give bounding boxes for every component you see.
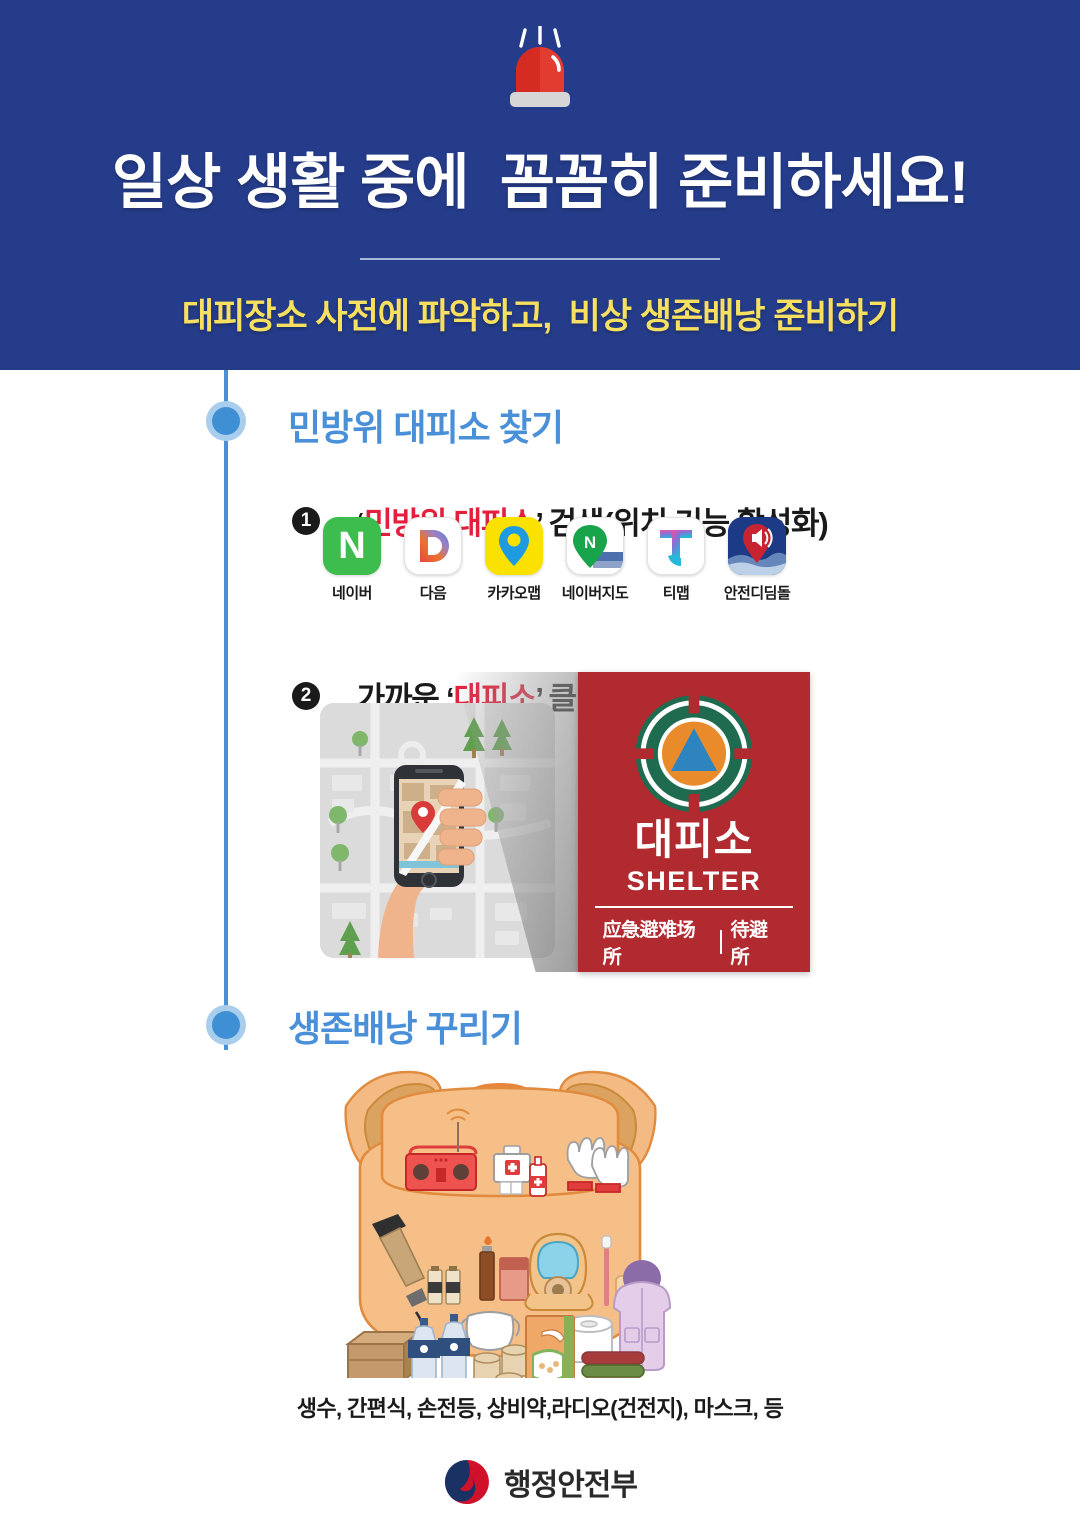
safety-didimdol-app-icon[interactable] [728, 517, 786, 575]
emergency-siren-icon [485, 26, 595, 116]
shelter-chinese-simplified-label: 应急避难场所 [595, 915, 721, 969]
app-item-navermap[interactable]: N 네이버지도 [565, 517, 625, 603]
app-item-safety-didimdol[interactable]: 안전디딤돌 [727, 517, 787, 603]
app-item-tmap[interactable]: 티맵 [646, 517, 706, 603]
shelter-korean-label: 대피소 [635, 819, 754, 861]
app-item-daum[interactable]: 다음 [403, 517, 463, 603]
step-number-1-badge: 1 [292, 507, 320, 535]
timeline-dot-section2 [206, 1005, 246, 1045]
step-number-2-badge: 2 [292, 682, 320, 710]
korea-government-taegeuk-logo [443, 1458, 491, 1506]
section1-heading: 민방위 대피소 찾기 [288, 399, 563, 451]
header-banner: 일상 생활 중에 꼼꼼히 준비하세요! 대피장소 사전에 파악하고, 비상 생존… [0, 0, 1080, 370]
navermap-app-icon[interactable]: N [566, 517, 624, 575]
timeline-line [224, 370, 228, 1050]
kakaomap-app-icon[interactable] [485, 517, 543, 575]
daum-app-icon[interactable] [404, 517, 462, 575]
app-label-safety-didimdol: 안전디딤돌 [724, 582, 791, 603]
hand-holding-phone-on-map-illustration [320, 703, 555, 958]
shelter-chinese-traditional-label: 待避所 [722, 915, 793, 969]
map-pin-icon [497, 524, 531, 568]
tmap-app-icon[interactable] [647, 517, 705, 575]
shelter-bottom-row: 应急避难场所 待避所 [595, 915, 794, 969]
app-label-naver: 네이버 [332, 582, 372, 603]
svg-text:N: N [584, 533, 596, 552]
civil-defense-shelter-emblem [619, 692, 769, 815]
section2-heading: 생존배낭 꾸리기 [288, 1000, 522, 1052]
timeline-dot-section1 [206, 401, 246, 441]
map-app-icon-row: N 네이버 다음 카카오맵 [322, 517, 787, 603]
app-item-kakaomap[interactable]: 카카오맵 [484, 517, 544, 603]
app-item-naver[interactable]: N 네이버 [322, 517, 382, 603]
app-label-navermap: 네이버지도 [562, 582, 629, 603]
app-label-tmap: 티맵 [663, 582, 690, 603]
shelter-english-label: SHELTER [627, 866, 762, 897]
shelter-divider [595, 906, 794, 908]
survival-backpack-with-supplies-illustration: SOAP [308, 1048, 693, 1378]
shelter-sign: 대피소 SHELTER 应急避难场所 待避所 [578, 672, 810, 972]
app-label-daum: 다음 [420, 582, 447, 603]
page-title: 일상 생활 중에 꼼꼼히 준비하세요! [0, 134, 1080, 221]
header-divider [360, 258, 720, 260]
page-subtitle: 대피장소 사전에 파악하고, 비상 생존배낭 준비하기 [0, 288, 1080, 339]
naver-app-icon[interactable]: N [323, 517, 381, 575]
backpack-contents-caption: 생수, 간편식, 손전등, 상비약,라디오(건전지), 마스크, 등 [0, 1391, 1080, 1423]
footer: 행정안전부 [0, 1458, 1080, 1506]
organization-name: 행정안전부 [504, 1460, 637, 1504]
app-label-kakaomap: 카카오맵 [487, 582, 540, 603]
naver-n-glyph: N [338, 525, 365, 568]
